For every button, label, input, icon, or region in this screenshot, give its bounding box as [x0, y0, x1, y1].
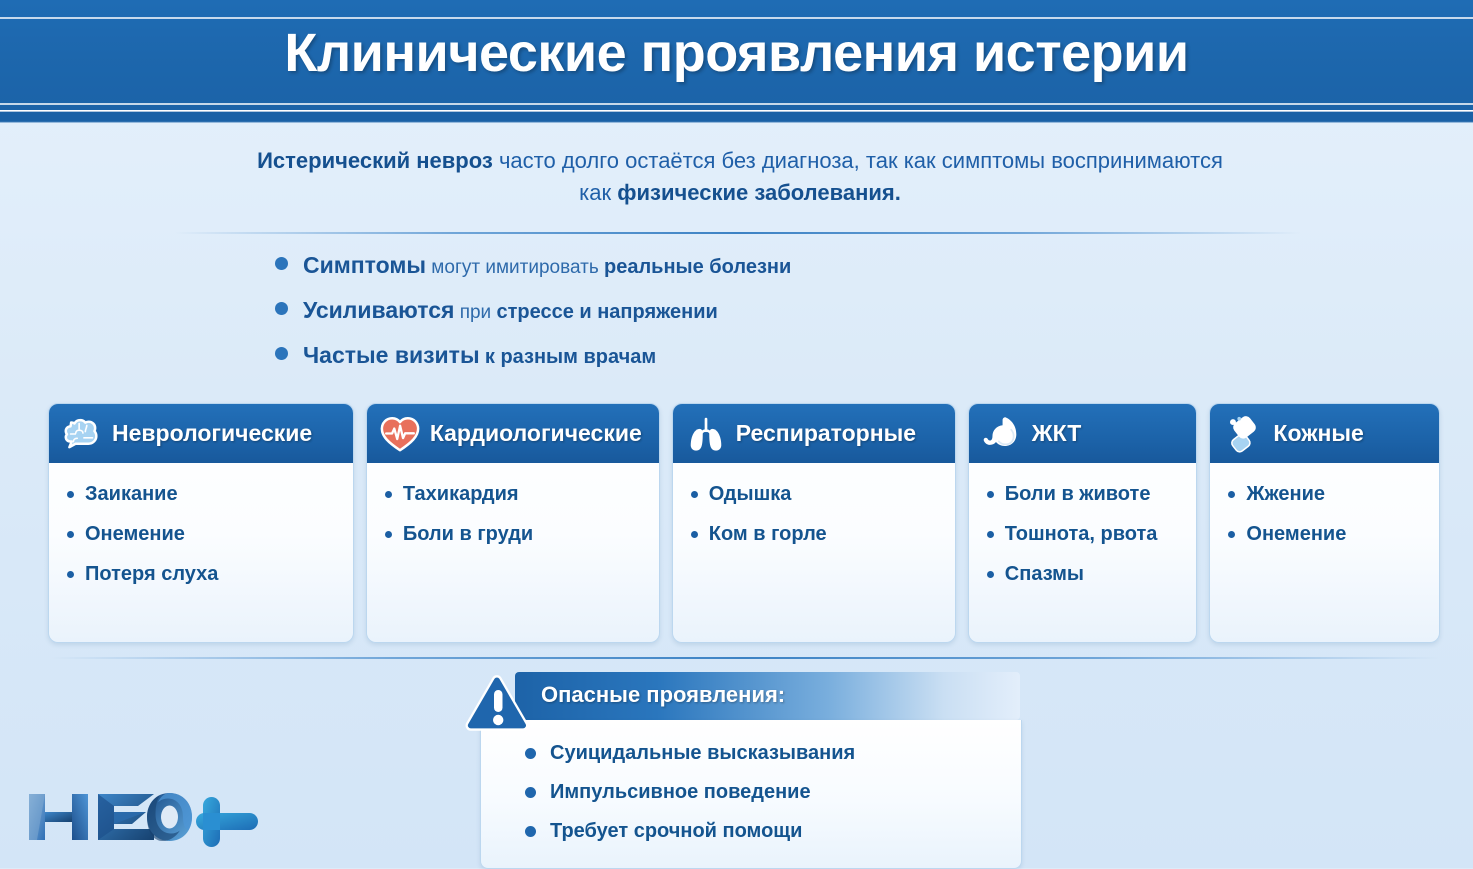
list-item: Одышка [691, 481, 941, 507]
card-header: Кардиологические [367, 404, 659, 463]
list-item: Тошнота, рвота [987, 521, 1183, 547]
symptom-label: Спазмы [1005, 561, 1084, 587]
card-body: Жжение Онемение [1210, 463, 1439, 642]
category-card-respiratory: Респираторные Одышка Ком в горле [672, 403, 956, 643]
symptom-label: Тахикардия [403, 481, 519, 507]
list-item: Боли в груди [385, 521, 645, 547]
list-item: Жжение [1228, 481, 1425, 507]
symptom-label: Одышка [709, 481, 792, 507]
danger-panel-body: Суицидальные высказывания Импульсивное п… [480, 720, 1022, 869]
list-item: Частые визиты к разным врачам [275, 342, 1175, 387]
list-item: Боли в животе [987, 481, 1183, 507]
intro-line-2: как физические заболевания. [150, 177, 1330, 209]
bullet-dot-icon [691, 531, 698, 538]
key-point-lead: Усиливаются [303, 297, 454, 323]
list-item: Заикание [67, 481, 339, 507]
symptom-label: Тошнота, рвота [1005, 521, 1158, 547]
card-header: Кожные [1210, 404, 1439, 463]
category-cards: Неврологические Заикание Онемение Потеря… [48, 403, 1440, 643]
bullet-dot-icon [67, 531, 74, 538]
card-header: ЖКТ [969, 404, 1197, 463]
list-item: Онемение [1228, 521, 1425, 547]
category-card-gastrointestinal: ЖКТ Боли в животе Тошнота, рвота Спазмы [968, 403, 1198, 643]
card-header: Респираторные [673, 404, 955, 463]
list-item: Спазмы [987, 561, 1183, 587]
logo-neo-plus [20, 782, 270, 852]
symptom-label: Боли в животе [1005, 481, 1151, 507]
list-item: Усиливаются при стрессе и напряжении [275, 297, 1175, 342]
intro-line-2-prefix: как [579, 180, 617, 205]
symptom-label: Онемение [85, 521, 185, 547]
key-point-mid: могут имитировать [426, 257, 604, 278]
bullet-dot-icon [67, 571, 74, 578]
bullet-dot-icon [525, 748, 536, 759]
lungs-icon [685, 413, 727, 455]
bullet-dot-icon [1228, 491, 1235, 498]
list-item: Суицидальные высказывания [481, 734, 1021, 773]
divider-bottom [50, 657, 1440, 659]
symptom-label: Онемение [1246, 521, 1346, 547]
key-point-mid: при [454, 302, 496, 323]
page-title: Клинические проявления истерии [0, 22, 1473, 84]
bullet-dot-icon [987, 531, 994, 538]
divider-top [175, 232, 1300, 234]
stomach-icon [981, 413, 1023, 455]
symptom-label: Заикание [85, 481, 178, 507]
heart-ekg-icon [379, 413, 421, 455]
page-header: Клинические проявления истерии [0, 0, 1473, 110]
bullet-dot-icon [385, 531, 392, 538]
card-title: ЖКТ [1032, 420, 1081, 447]
key-point-lead: Симптомы [303, 252, 426, 278]
key-point-lead: Частые визиты [303, 342, 480, 368]
list-item: Онемение [67, 521, 339, 547]
symptom-label: Жжение [1246, 481, 1325, 507]
bullet-dot-icon [987, 571, 994, 578]
danger-panel-title: Опасные проявления: [541, 682, 785, 708]
header-rule-bottom [0, 103, 1473, 105]
infographic-page: Клинические проявления истерии Истеричес… [0, 0, 1473, 868]
bullet-dot-icon [67, 491, 74, 498]
list-item: Тахикардия [385, 481, 645, 507]
intro-emphasis: физические заболевания. [617, 180, 901, 205]
list-item: Импульсивное поведение [481, 773, 1021, 812]
key-point-emphasis: к разным врачам [485, 346, 656, 368]
list-item: Потеря слуха [67, 561, 339, 587]
list-item: Требует срочной помощи [481, 812, 1021, 851]
warning-triangle-icon [463, 672, 541, 738]
category-card-neurological: Неврологические Заикание Онемение Потеря… [48, 403, 354, 643]
card-body: Заикание Онемение Потеря слуха [49, 463, 353, 642]
symptom-label: Боли в груди [403, 521, 533, 547]
danger-label: Импульсивное поведение [550, 781, 811, 804]
key-point-emphasis: стрессе и напряжении [496, 301, 717, 323]
danger-label: Требует срочной помощи [550, 820, 802, 843]
card-body: Тахикардия Боли в груди [367, 463, 659, 642]
intro-paragraph: Истерический невроз часто долго остаётся… [150, 145, 1330, 209]
card-title: Респираторные [736, 420, 916, 447]
category-card-cardiological: Кардиологические Тахикардия Боли в груди [366, 403, 660, 643]
card-header: Неврологические [49, 404, 353, 463]
list-item: Симптомы могут имитировать реальные боле… [275, 252, 1175, 297]
bullet-dot-icon [275, 302, 288, 315]
bullet-dot-icon [987, 491, 994, 498]
card-title: Кардиологические [430, 420, 642, 447]
bullet-dot-icon [385, 491, 392, 498]
key-points-list: Симптомы могут имитировать реальные боле… [275, 252, 1175, 387]
bullet-dot-icon [275, 257, 288, 270]
bullet-dot-icon [525, 826, 536, 837]
card-title: Кожные [1273, 420, 1363, 447]
intro-line-1: Истерический невроз часто долго остаётся… [150, 145, 1330, 177]
header-rule-top [0, 17, 1473, 19]
bullet-dot-icon [691, 491, 698, 498]
danger-panel: Суицидальные высказывания Импульсивное п… [463, 672, 1020, 857]
symptom-label: Потеря слуха [85, 561, 218, 587]
list-item: Ком в горле [691, 521, 941, 547]
intro-line-1-rest: часто долго остаётся без диагноза, так к… [493, 148, 1223, 173]
card-title: Неврологические [112, 420, 312, 447]
header-accent-band [0, 110, 1473, 123]
key-point-emphasis: реальные болезни [604, 256, 791, 278]
card-body: Боли в животе Тошнота, рвота Спазмы [969, 463, 1197, 642]
bullet-dot-icon [1228, 531, 1235, 538]
intro-term: Истерический невроз [257, 148, 493, 173]
bullet-dot-icon [525, 787, 536, 798]
skin-patches-icon [1222, 413, 1264, 455]
symptom-label: Ком в горле [709, 521, 827, 547]
brain-icon [61, 413, 103, 455]
category-card-skin: Кожные Жжение Онемение [1209, 403, 1440, 643]
danger-label: Суицидальные высказывания [550, 742, 855, 765]
card-body: Одышка Ком в горле [673, 463, 955, 642]
bullet-dot-icon [275, 347, 288, 360]
